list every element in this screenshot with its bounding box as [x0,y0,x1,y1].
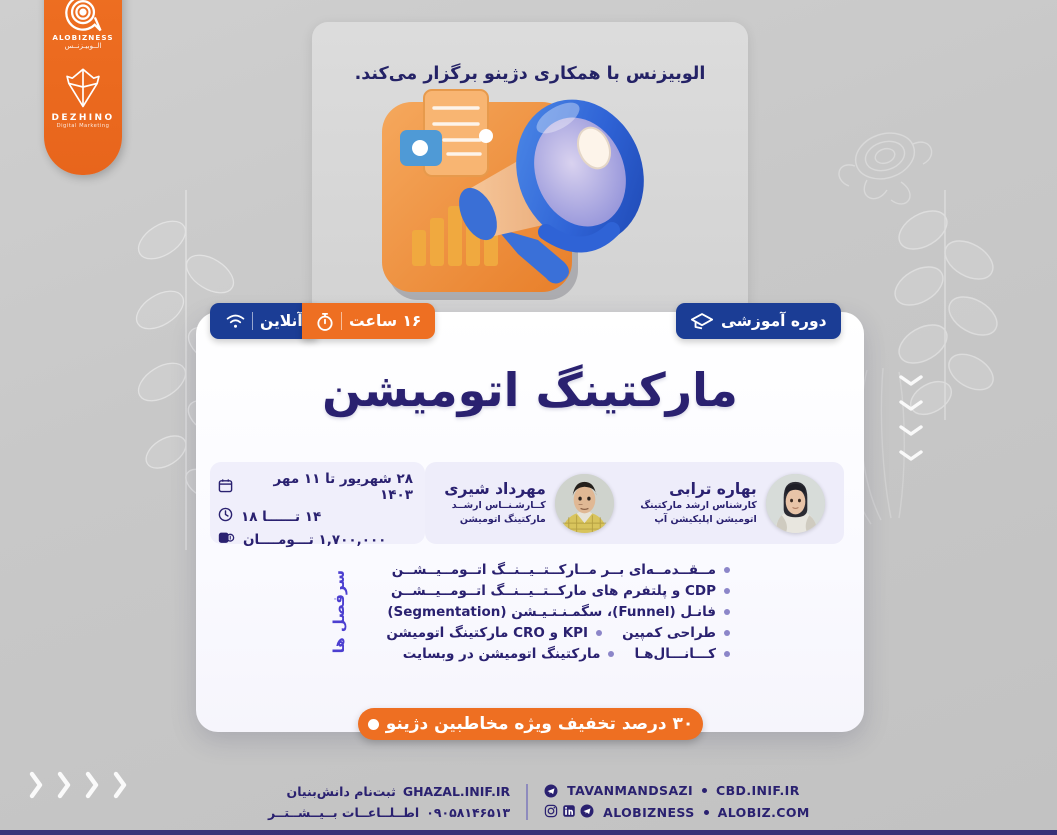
syllabus-row: CDP و پلتفرم های مارکــتــیــنــگ اتــوم… [374,583,730,599]
syllabus-section: مــقــدمــه‌ای بــر مــارکــتــیــنــگ ا… [330,562,730,662]
bullet-icon [724,651,730,657]
footer-contact-column: GHAZAL.INIF.IR ثبت‌نام دانش‌بنیان ۰۹۰۵۸۱… [268,784,510,820]
chevron-down-icon [898,397,924,416]
graduation-cap-icon [690,312,714,330]
badge-online-label: آنلاین [260,312,303,330]
badge-course-label: دوره آموزشی [721,312,827,330]
social-icons-group[interactable] [544,804,594,821]
page-title: مارکتینگ اتومیشن [196,363,864,417]
dezhino-name-en: DEZHINO [52,114,115,123]
chevron-down-icon [898,422,924,441]
bullet-icon [724,588,730,594]
footer-info-value[interactable]: ۰۹۰۵۸۱۴۶۵۱۳ [426,805,510,820]
instructor-text: بهاره ترابی کارشناس ارشد مارکتینگ اتومیش… [640,480,756,526]
footer-divider [526,784,528,820]
instructor-card[interactable]: بهاره ترابی کارشناس ارشد مارکتینگ اتومیش… [640,474,824,533]
instructors-panel: بهاره ترابی کارشناس ارشد مارکتینگ اتومیش… [425,462,844,544]
syllabus-item-text: CDP و پلتفرم های مارکــتــیــنــگ اتــوم… [391,583,716,599]
footer-social-row[interactable]: ALOBIZNESS ALOBIZ.COM [544,804,810,821]
instructor-card[interactable]: مهرداد شیری کــارشـنــاس ارشــد مارکتینگ… [444,474,614,533]
footer-inner: TAVANMANDSAZI CBD.INIF.IR ALOBIZNESS [268,783,810,821]
instructor-name: مهرداد شیری [444,480,546,498]
detail-date: ۲۸ شهریور تا ۱۱ مهر ۱۴۰۳ [218,471,413,503]
syllabus-cell: طراحی کمپین [622,625,730,641]
hero-panel: الوبیزنس با همکاری دژینو برگزار می‌کند. [312,22,748,317]
footer-registration-row[interactable]: GHAZAL.INIF.IR ثبت‌نام دانش‌بنیان [287,784,511,799]
telegram-icon[interactable] [580,804,594,821]
calendar-icon [218,478,233,497]
syllabus-row: فانـل (Funnel)، سگمـنـتـیـشن (Segmentati… [374,604,730,620]
footer-dot-icon [702,788,707,793]
timer-icon [316,312,334,331]
badge-duration[interactable]: ۱۶ ساعت [302,303,435,339]
dezhino-tagline: Digital Marketing [52,124,115,129]
detail-price: ۱,۷۰۰,۰۰۰ تـــومــــان [218,530,413,549]
footer-registration-value[interactable]: GHAZAL.INIF.IR [403,784,510,799]
syllabus-item-text: مــقــدمــه‌ای بــر مــارکــتــیــنــگ ا… [392,562,716,578]
footer-social-row[interactable]: TAVANMANDSAZI CBD.INIF.IR [544,783,810,798]
footer-handle: TAVANMANDSAZI [567,783,693,798]
footer-info-label: اطــلــاعــات بــیــشــتــر [268,805,419,820]
clock-icon [218,507,233,526]
syllabus-cell: کـــانـــال‌هـا [634,646,730,662]
syllabus-cell: KPI و CRO مارکتینگ اتومیشن [386,625,602,641]
discount-text: ۳۰ درصد تخفیف ویژه مخاطبین دژینو [386,714,694,734]
instructor-role-line2: مارکتینگ اتومیشن [444,514,546,526]
detail-time-text: ۱۴ تــــــا ۱۸ [241,509,321,525]
badge-divider [252,312,253,330]
linkedin-icon[interactable] [562,804,576,821]
footer-dot-icon [704,810,709,815]
course-info-strip: بهاره ترابی کارشناس ارشد مارکتینگ اتومیش… [210,462,850,544]
avatar [555,474,614,533]
syllabus-row: مــقــدمــه‌ای بــر مــارکــتــیــنــگ ا… [374,562,730,578]
syllabus-item-text: فانـل (Funnel)، سگمـنـتـیـشن (Segmentati… [387,604,716,620]
money-icon [218,530,235,549]
badge-online[interactable]: آنلاین [210,303,317,339]
footer: TAVANMANDSAZI CBD.INIF.IR ALOBIZNESS [0,779,1057,835]
detail-time: ۱۴ تــــــا ۱۸ [218,507,413,526]
syllabus-item-text: طراحی کمپین [622,625,716,641]
footer-registration-label: ثبت‌نام دانش‌بنیان [287,784,396,799]
detail-date-text: ۲۸ شهریور تا ۱۱ مهر ۱۴۰۳ [241,471,413,503]
bullet-icon [724,609,730,615]
syllabus-label: سرفصل ها [330,570,368,653]
instructor-role-line2: اتومیشن اپلیکیشن آپ [640,514,756,526]
syllabus-list: مــقــدمــه‌ای بــر مــارکــتــیــنــگ ا… [374,562,730,662]
instagram-icon[interactable] [544,804,558,821]
alobizness-wordmark: ALOBIZNESS الــوبیـزنــس [52,34,113,50]
footer-bottom-bar [0,830,1057,835]
badge-course-type[interactable]: دوره آموزشی [676,303,841,339]
bullet-icon [596,630,602,636]
footer-handle: ALOBIZNESS [603,805,695,820]
chevron-down-icon [898,447,924,466]
footer-site[interactable]: ALOBIZ.COM [718,805,810,820]
footer-social-column: TAVANMANDSAZI CBD.INIF.IR ALOBIZNESS [544,783,810,821]
alobizness-name-en: ALOBIZNESS [52,34,113,42]
chevron-down-icon [898,372,924,391]
syllabus-item-text: کـــانـــال‌هـا [634,646,716,662]
bullet-icon [724,630,730,636]
avatar [766,474,825,533]
syllabus-item-text: KPI و CRO مارکتینگ اتومیشن [386,625,588,641]
instructor-role-line1: کــارشـنــاس ارشــد [444,500,546,512]
alobizness-logo-icon [62,0,104,34]
bullet-icon [608,651,614,657]
course-details-box: ۲۸ شهریور تا ۱۱ مهر ۱۴۰۳ ۱۴ تــــــا ۱۸ … [210,462,425,544]
discount-dot-icon [368,719,379,730]
discount-banner[interactable]: ۳۰ درصد تخفیف ویژه مخاطبین دژینو [358,708,703,740]
instructor-name: بهاره ترابی [640,480,756,498]
instructor-role-line1: کارشناس ارشد مارکتینگ [640,500,756,512]
syllabus-row: طراحی کمپین KPI و CRO مارکتینگ اتومیشن [374,625,730,641]
syllabus-item-text: مارکتینگ اتومیشن در وبسایت [403,646,601,662]
badge-hours-label: ۱۶ ساعت [349,312,421,330]
footer-info-row[interactable]: ۰۹۰۵۸۱۴۶۵۱۳ اطــلــاعــات بــیــشــتــر [268,805,510,820]
telegram-icon[interactable] [544,784,558,798]
dezhino-wordmark: DEZHINO Digital Marketing [52,110,115,130]
syllabus-row: کـــانـــال‌هـا مارکتینگ اتومیشن در وبسا… [374,646,730,662]
bullet-icon [724,567,730,573]
syllabus-cell: مارکتینگ اتومیشن در وبسایت [403,646,615,662]
chevron-down-group [898,372,924,466]
detail-price-text: ۱,۷۰۰,۰۰۰ تـــومــــان [243,532,386,548]
megaphone-illustration-icon [368,80,668,314]
badge-divider [341,312,342,330]
brand-logo-bar: ALOBIZNESS الــوبیـزنــس DEZHINO Digital… [44,0,122,175]
footer-site[interactable]: CBD.INIF.IR [716,783,800,798]
dezhino-logo-icon [60,64,106,110]
alobizness-name-fa: الــوبیـزنــس [52,43,113,50]
wifi-icon [226,314,245,329]
instructor-text: مهرداد شیری کــارشـنــاس ارشــد مارکتینگ… [444,480,546,526]
